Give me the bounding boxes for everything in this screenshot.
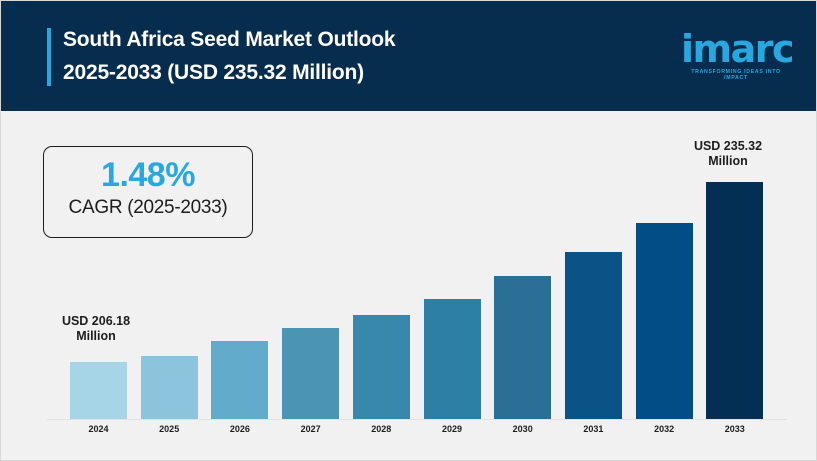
- x-axis-label-2032: 2032: [636, 424, 693, 434]
- start-value-line2: Million: [31, 329, 161, 344]
- x-axis-label-2029: 2029: [424, 424, 481, 434]
- end-value-line1: USD 235.32: [663, 139, 793, 154]
- bar-2030: [494, 276, 551, 419]
- bar-2026: [211, 341, 268, 419]
- x-axis-label-2026: 2026: [211, 424, 268, 434]
- end-value-line2: Million: [663, 154, 793, 169]
- bar-2024: [70, 362, 127, 419]
- start-value-line1: USD 206.18: [31, 314, 161, 329]
- bar-2025: [141, 356, 198, 419]
- x-axis-label-2030: 2030: [494, 424, 551, 434]
- x-axis-label-2025: 2025: [141, 424, 198, 434]
- x-axis-label-2024: 2024: [70, 424, 127, 434]
- chart-baseline: [47, 419, 787, 420]
- x-axis-label-2033: 2033: [706, 424, 763, 434]
- bar-2031: [565, 252, 622, 419]
- bar-2027: [282, 328, 339, 419]
- infographic-page: South Africa Seed Market Outlook 2025-20…: [0, 0, 817, 461]
- x-axis-label-2028: 2028: [353, 424, 410, 434]
- bar-2033: [706, 182, 763, 419]
- end-value-callout: USD 235.32 Million: [663, 139, 793, 169]
- x-axis-label-2027: 2027: [282, 424, 339, 434]
- x-axis-label-2031: 2031: [565, 424, 622, 434]
- start-value-callout: USD 206.18 Million: [31, 314, 161, 344]
- bar-2028: [353, 315, 410, 419]
- bar-chart: 2024202520262027202820292030203120322033: [1, 1, 817, 461]
- bar-2032: [636, 223, 693, 419]
- bar-2029: [424, 299, 481, 419]
